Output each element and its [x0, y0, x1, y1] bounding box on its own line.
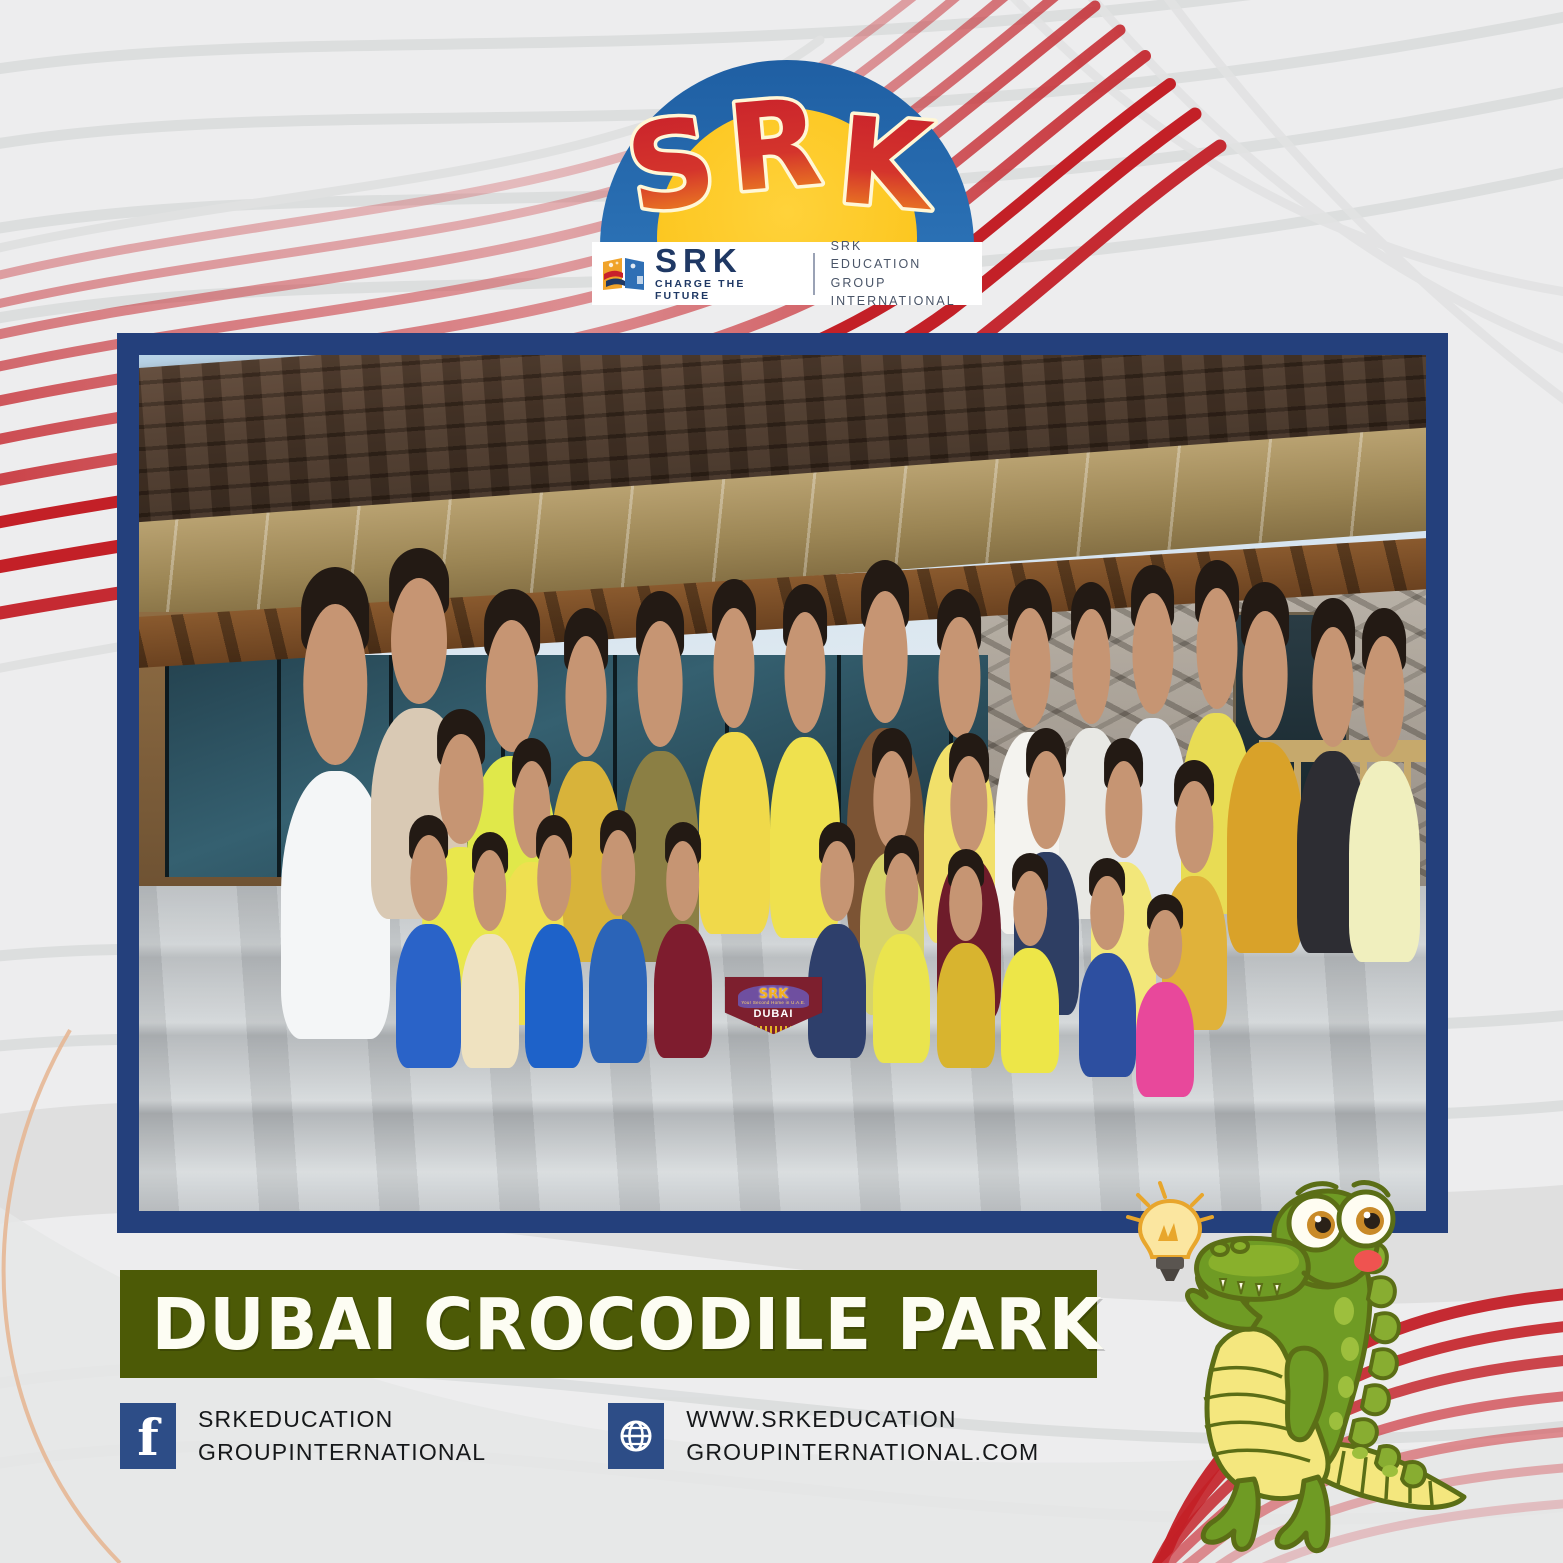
logo-strip-brand: SRK	[655, 245, 797, 276]
logo-strip-org-line-1: SRK	[831, 237, 974, 255]
srk-logo-strip: SRK CHARGE THE FUTURE SRK EDUCATION GROU…	[592, 242, 982, 305]
photo-child	[1136, 982, 1194, 1097]
photo-child	[654, 924, 712, 1058]
croc-leg-left	[1203, 1479, 1258, 1549]
photo-child	[873, 934, 931, 1063]
photo-person	[1227, 742, 1304, 953]
pennant-tagline: Your Second Home in U.A.E.	[725, 1000, 823, 1005]
logo-letter-r: R	[722, 73, 826, 220]
srk-arc-mark: S R K	[592, 60, 982, 250]
croc-blush	[1354, 1250, 1382, 1272]
photo-child	[525, 924, 583, 1068]
title-banner: DUBAI CROCODILE PARK	[120, 1270, 1097, 1378]
logo-strip-tagline: CHARGE THE FUTURE	[655, 278, 797, 302]
website-url: WWW.SRKEDUCATION GROUPINTERNATIONAL.COM	[686, 1403, 1039, 1470]
logo-strip-org-line-3: INTERNATIONAL	[831, 292, 974, 310]
photo-child	[1001, 948, 1059, 1073]
photo-child	[461, 934, 519, 1068]
facebook-icon[interactable]: f	[120, 1403, 176, 1469]
srk-logo: S R K SRK	[592, 60, 982, 305]
contact-facebook[interactable]: f SRKEDUCATION GROUPINTERNATIONAL	[120, 1403, 486, 1470]
photo-child	[589, 919, 647, 1063]
contact-website[interactable]: WWW.SRKEDUCATION GROUPINTERNATIONAL.COM	[608, 1403, 1039, 1470]
photo-person	[1349, 761, 1420, 962]
croc-eye-highlight	[1364, 1212, 1371, 1219]
facebook-f-glyph: f	[137, 1413, 159, 1463]
group-photo: SRK Your Second Home in U.A.E. DUBAI	[139, 355, 1426, 1211]
logo-srk-wordmark: S R K	[592, 68, 982, 248]
croc-eye-highlight	[1315, 1216, 1322, 1223]
croc-nostril	[1212, 1243, 1228, 1255]
photo-crowd: SRK Your Second Home in U.A.E. DUBAI	[139, 646, 1426, 1125]
page-title: DUBAI CROCODILE PARK	[120, 1283, 1102, 1366]
logo-strip-org: SRK EDUCATION GROUP INTERNATIONAL	[831, 237, 974, 310]
logo-letter-s: S	[618, 91, 725, 242]
photo-frame: SRK Your Second Home in U.A.E. DUBAI	[117, 333, 1448, 1233]
photo-person	[699, 732, 770, 933]
srk-book-hands-icon	[600, 254, 648, 294]
crocodile-mascot	[1108, 1175, 1478, 1563]
logo-strip-divider	[813, 253, 815, 295]
pennant-city: DUBAI	[725, 1008, 823, 1020]
facebook-handle: SRKEDUCATION GROUPINTERNATIONAL	[198, 1403, 486, 1470]
contact-row: f SRKEDUCATION GROUPINTERNATIONAL WWW.SR…	[120, 1403, 1120, 1503]
photo-child	[1079, 953, 1137, 1078]
globe-glyph	[616, 1416, 656, 1456]
poster-canvas: S R K SRK	[0, 0, 1563, 1563]
pennant-brand: SRK	[725, 987, 823, 1002]
croc-nostril	[1232, 1240, 1248, 1252]
photo-child	[396, 924, 460, 1068]
logo-strip-org-line-2: EDUCATION GROUP	[831, 255, 974, 291]
globe-icon[interactable]	[608, 1403, 664, 1469]
logo-letter-k: K	[832, 91, 941, 238]
photo-child	[937, 943, 995, 1068]
